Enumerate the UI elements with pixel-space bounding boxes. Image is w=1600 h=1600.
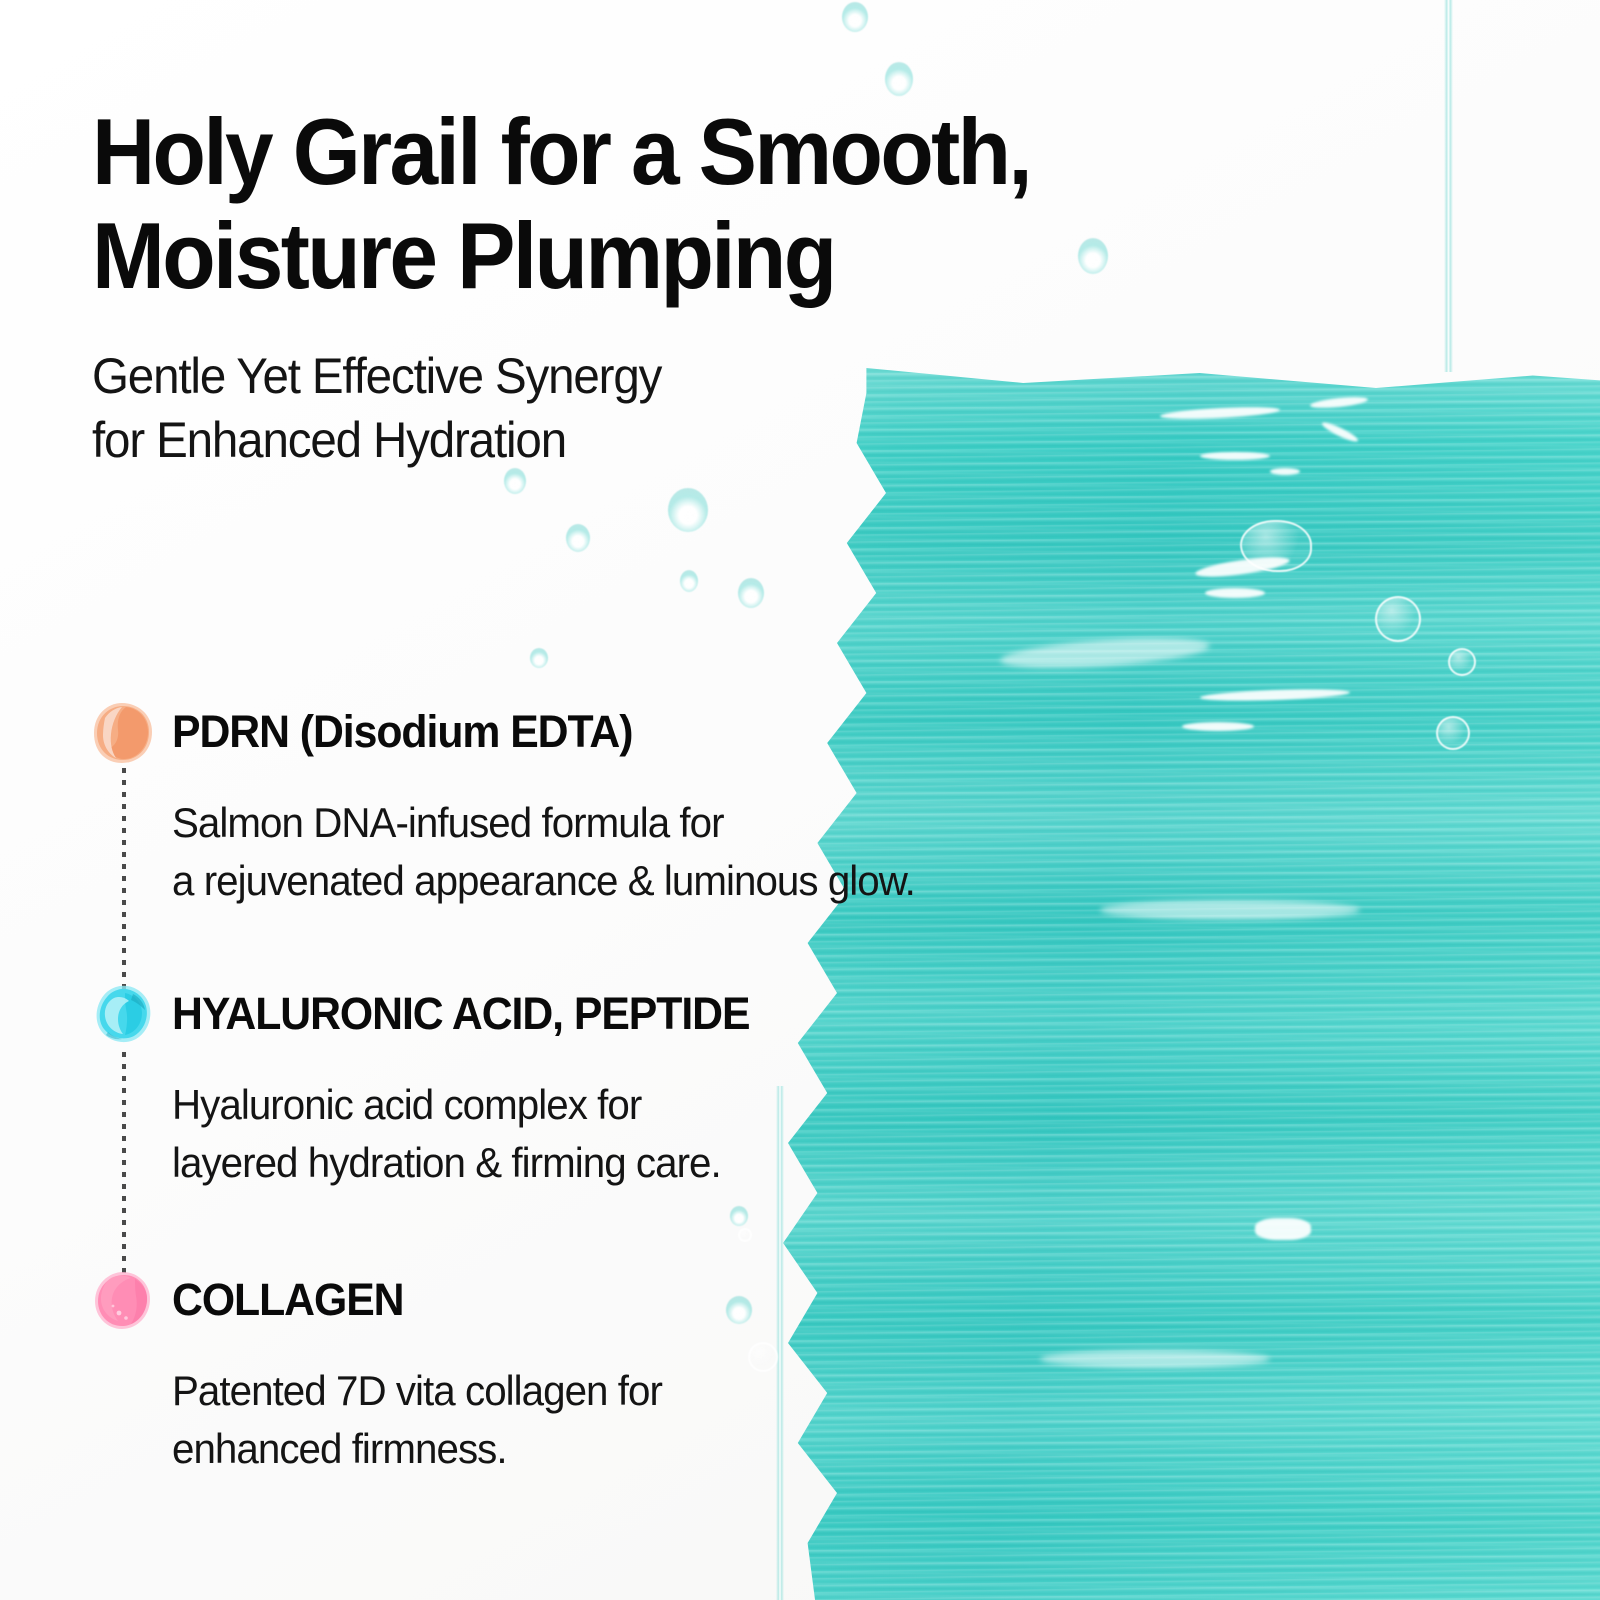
ingredient-header: HYALURONIC ACID, PEPTIDE xyxy=(92,982,1212,1054)
ingredient-description: Hyaluronic acid complex for layered hydr… xyxy=(172,1076,1170,1192)
ingredient-header: PDRN (Disodium EDTA) xyxy=(92,700,1212,772)
ingredient-description: Salmon DNA-infused formula for a rejuven… xyxy=(172,794,1170,910)
ingredient-title: HYALURONIC ACID, PEPTIDE xyxy=(172,988,749,1040)
ingredient-description-line-2: enhanced firmness. xyxy=(172,1420,1170,1478)
hyaluronic-blob-icon xyxy=(92,984,154,1046)
ingredient-description-line-2: a rejuvenated appearance & luminous glow… xyxy=(172,852,1170,910)
ingredient-title: PDRN (Disodium EDTA) xyxy=(172,706,632,758)
ingredient-description: Patented 7D vita collagen for enhanced f… xyxy=(172,1362,1170,1478)
ingredient-list: PDRN (Disodium EDTA) Salmon DNA-infused … xyxy=(0,0,1600,1600)
ingredient-item-collagen: COLLAGEN Patented 7D vita collagen for e… xyxy=(92,1268,1212,1478)
ingredient-description-line-1: Salmon DNA-infused formula for xyxy=(172,794,1170,852)
ingredient-header: COLLAGEN xyxy=(92,1268,1212,1340)
ingredient-title: COLLAGEN xyxy=(172,1274,404,1326)
infographic-canvas: Holy Grail for a Smooth, Moisture Plumpi… xyxy=(0,0,1600,1600)
ingredient-description-line-1: Hyaluronic acid complex for xyxy=(172,1076,1170,1134)
ingredient-description-line-1: Patented 7D vita collagen for xyxy=(172,1362,1170,1420)
ingredient-item-pdrn: PDRN (Disodium EDTA) Salmon DNA-infused … xyxy=(92,700,1212,910)
collagen-blob-icon xyxy=(92,1270,154,1332)
pdrn-blob-icon xyxy=(92,702,154,764)
ingredient-description-line-2: layered hydration & firming care. xyxy=(172,1134,1170,1192)
content-layer: Holy Grail for a Smooth, Moisture Plumpi… xyxy=(0,0,1600,1600)
ingredient-item-hyaluronic-acid: HYALURONIC ACID, PEPTIDE Hyaluronic acid… xyxy=(92,982,1212,1192)
